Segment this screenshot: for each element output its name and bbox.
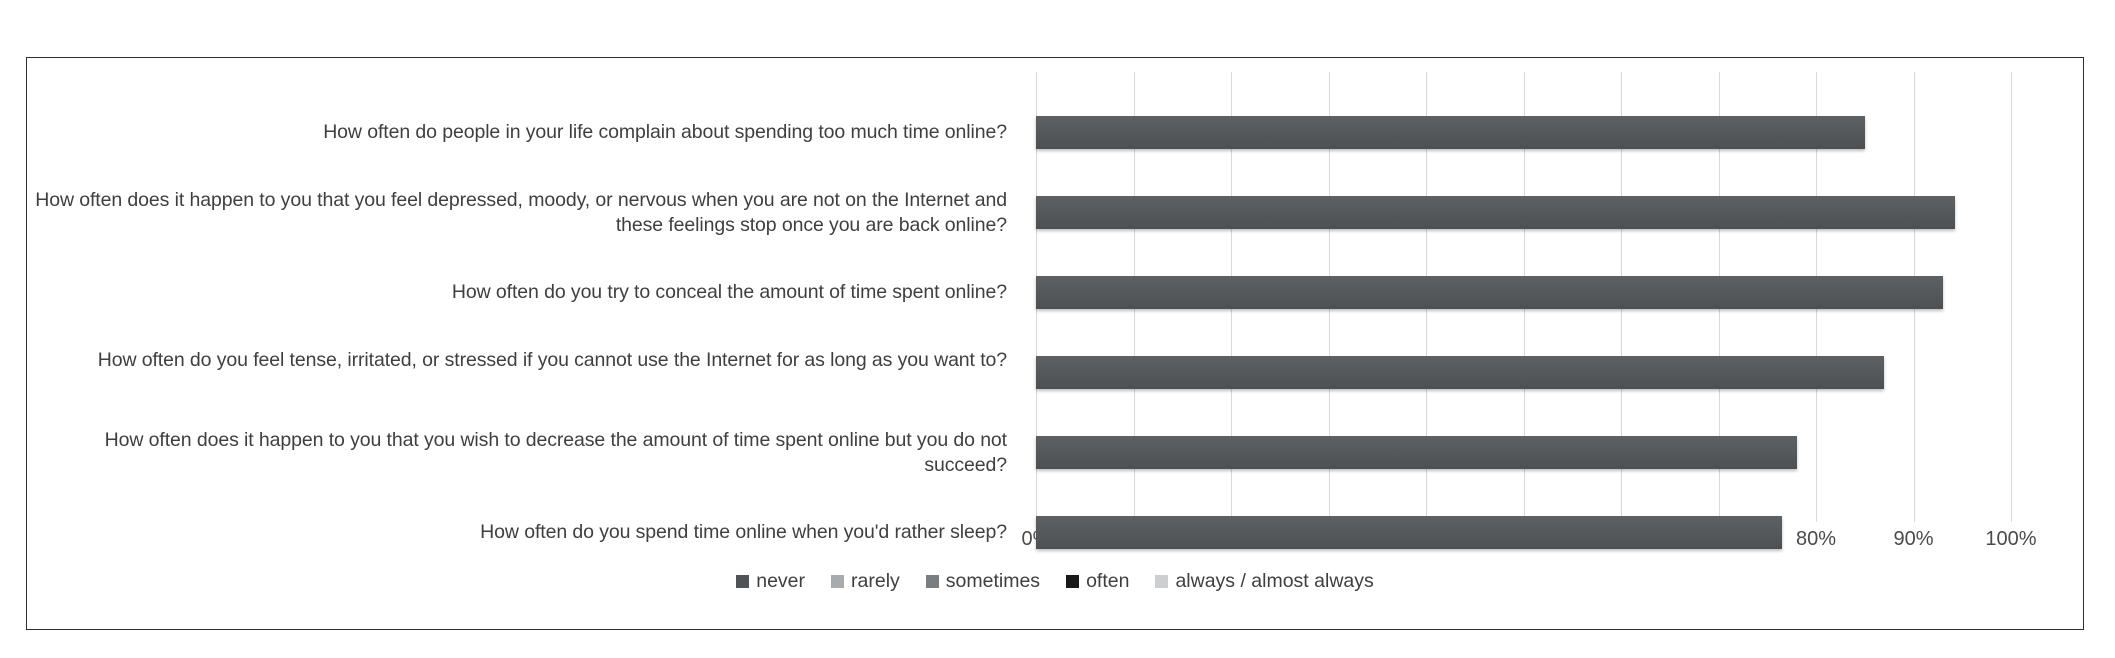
chart-legend: neverrarelysometimesoftenalways / almost… xyxy=(27,570,2083,593)
axis-tick-label: 100% xyxy=(1985,528,2036,551)
bar-segment-rarely[interactable] xyxy=(1955,196,1997,229)
bar-segment-always-almost-always[interactable] xyxy=(2008,116,2011,149)
legend-item-rarely[interactable]: rarely xyxy=(831,570,900,593)
bar-segment-sometimes[interactable] xyxy=(1950,116,1997,149)
bar-segment-sometimes[interactable] xyxy=(1970,356,1998,389)
legend-swatch-icon xyxy=(926,575,939,588)
legend-item-always-almost-always[interactable]: always / almost always xyxy=(1155,570,1373,593)
bar-segment-often[interactable] xyxy=(1972,436,2011,469)
bar-segment-often[interactable] xyxy=(1996,116,2008,149)
bar-row[interactable] xyxy=(1036,436,2011,469)
legend-item-never[interactable]: never xyxy=(736,570,805,593)
bar-segment-never[interactable] xyxy=(1036,356,1884,389)
axis-tick-label: 80% xyxy=(1796,528,1836,551)
bar-segment-never[interactable] xyxy=(1036,436,1797,469)
legend-swatch-icon xyxy=(1155,575,1168,588)
legend-label: never xyxy=(756,570,805,593)
legend-swatch-icon xyxy=(736,575,749,588)
legend-swatch-icon xyxy=(831,575,844,588)
chart-container: How often do people in your life complai… xyxy=(26,57,2084,630)
category-label: How often does it happen to you that you… xyxy=(27,428,1007,478)
legend-label: always / almost always xyxy=(1175,570,1373,593)
bar-segment-often[interactable] xyxy=(1998,356,2011,389)
bar-segment-rarely[interactable] xyxy=(1865,116,1950,149)
axis-tick-label: 90% xyxy=(1893,528,1933,551)
bar-row[interactable] xyxy=(1036,196,2011,229)
category-label: How often do you try to conceal the amou… xyxy=(27,280,1007,305)
bar-segment-never[interactable] xyxy=(1036,516,1782,549)
bar-row[interactable] xyxy=(1036,116,2011,149)
bar-segment-never[interactable] xyxy=(1036,116,1865,149)
category-label: How often does it happen to you that you… xyxy=(27,188,1007,238)
legend-label: rarely xyxy=(851,570,900,593)
bar-segment-rarely[interactable] xyxy=(1797,436,1909,469)
legend-item-often[interactable]: often xyxy=(1066,570,1129,593)
bar-segment-never[interactable] xyxy=(1036,196,1955,229)
category-label: How often do you spend time online when … xyxy=(27,520,1007,545)
bar-row[interactable] xyxy=(1036,276,2011,309)
bar-segment-often[interactable] xyxy=(2001,196,2011,229)
legend-label: sometimes xyxy=(946,570,1040,593)
legend-item-sometimes[interactable]: sometimes xyxy=(926,570,1040,593)
bar-segment-rarely[interactable] xyxy=(1884,356,1970,389)
gridline xyxy=(2011,72,2012,522)
category-label: How often do people in your life complai… xyxy=(27,120,1007,145)
legend-swatch-icon xyxy=(1066,575,1079,588)
legend-label: often xyxy=(1086,570,1129,593)
category-label: How often do you feel tense, irritated, … xyxy=(27,348,1007,373)
bar-segment-rarely[interactable] xyxy=(1943,276,1985,309)
bar-row[interactable] xyxy=(1036,356,2011,389)
bar-segment-often[interactable] xyxy=(2002,276,2011,309)
chart-plot-wrapper: How often do people in your life complai… xyxy=(27,58,2083,629)
bar-segment-sometimes[interactable] xyxy=(1909,436,1972,469)
category-axis-labels: How often do people in your life complai… xyxy=(27,72,1023,522)
bar-segment-sometimes[interactable] xyxy=(1997,196,2001,229)
bar-segment-sometimes[interactable] xyxy=(1985,276,2003,309)
plot-area xyxy=(1036,72,2011,522)
bar-segment-never[interactable] xyxy=(1036,276,1943,309)
